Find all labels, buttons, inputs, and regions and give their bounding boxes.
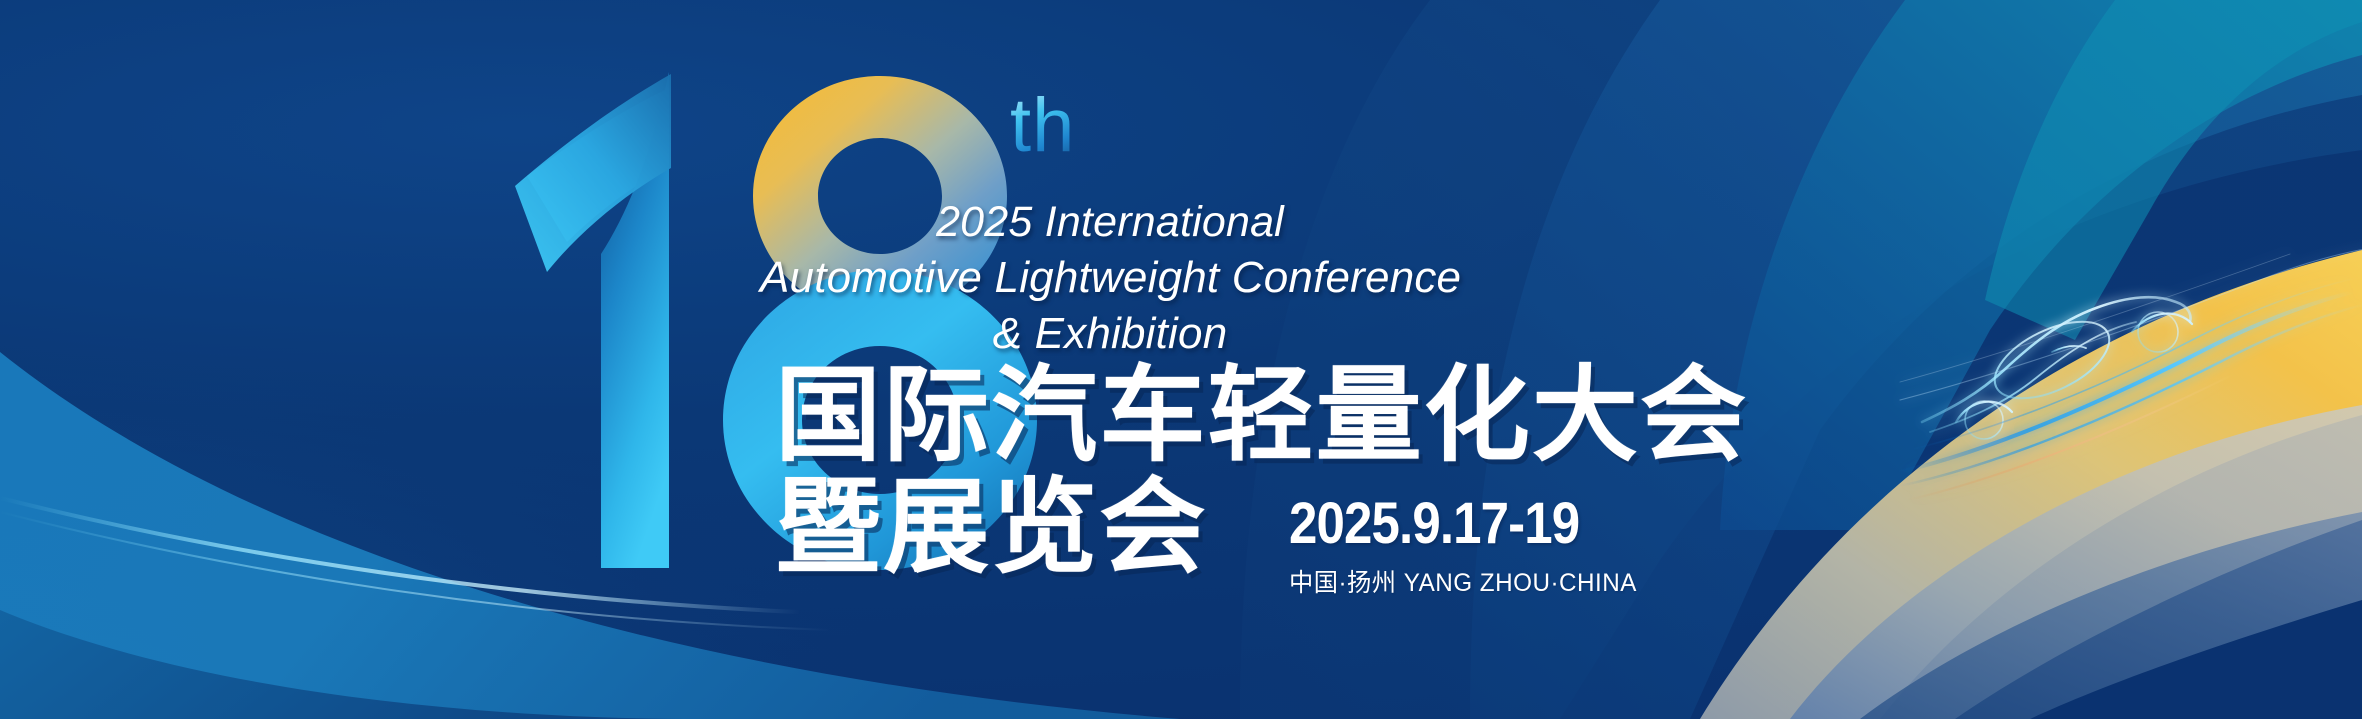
ordinal-suffix: th xyxy=(1010,88,1075,164)
conference-banner: th 2025 International Automotive Lightwe… xyxy=(0,0,2362,719)
chinese-title-line-1: 国际汽车轻量化大会 xyxy=(775,360,1748,472)
event-location: 中国·扬州 YANG ZHOU·CHINA xyxy=(1289,563,1637,599)
english-title-line-1: 2025 International xyxy=(760,195,1460,250)
event-date: 2025.9.17-19 xyxy=(1289,495,1605,553)
english-title-line-2: Automotive Lightweight Conference xyxy=(760,250,1460,306)
english-title: 2025 International Automotive Lightweigh… xyxy=(760,195,1460,363)
event-date-location: 2025.9.17-19 中国·扬州 YANG ZHOU·CHINA xyxy=(1289,495,1648,599)
english-title-line-3: & Exhibition xyxy=(760,306,1460,362)
